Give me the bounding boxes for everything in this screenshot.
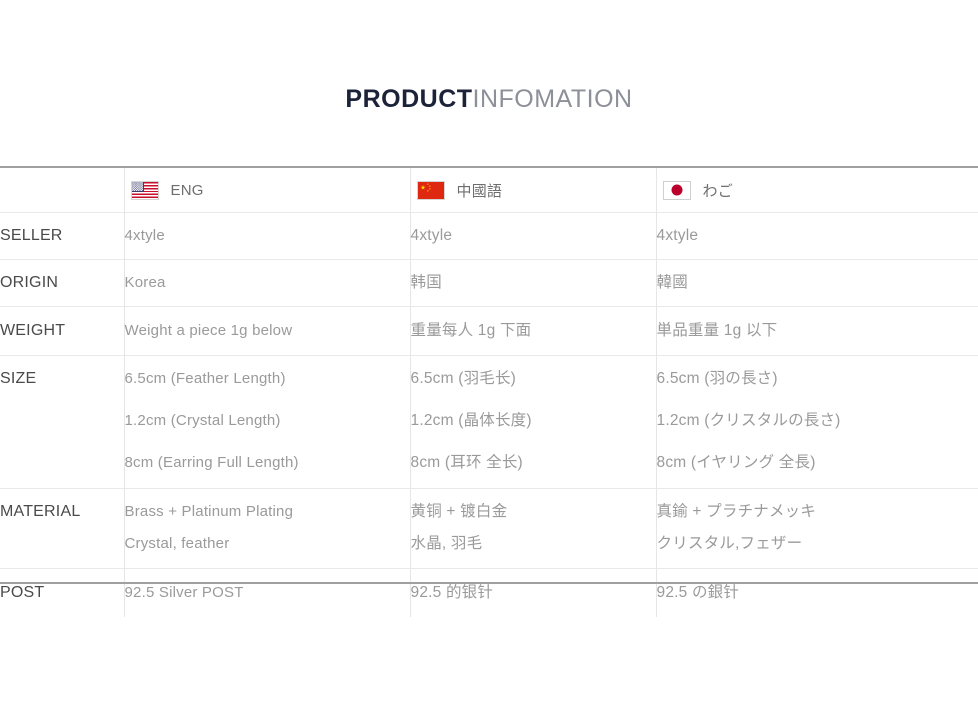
header-cell-jpn: わご (656, 168, 978, 213)
cell-weight-chn: 重量每人 1g 下面 (410, 307, 656, 356)
table-row: POST 92.5 Silver POST 92.5 的银针 92.5 の銀针 (0, 569, 978, 618)
table-row: SELLER 4xtyle 4xtyle 4xtyle (0, 213, 978, 260)
cell-seller-eng: 4xtyle (124, 213, 410, 260)
table-row: ORIGIN Korea 韩国 韓國 (0, 260, 978, 307)
cell-post-jpn: 92.5 の銀针 (656, 569, 978, 618)
cell-size-jpn: 6.5cm (羽の長さ) 1.2cm (クリスタルの長さ) 8cm (イヤリング… (656, 356, 978, 489)
header-label-jpn: わご (703, 180, 733, 201)
cell-weight-jpn: 単品重量 1g 以下 (656, 307, 978, 356)
flag-japan-icon (663, 181, 691, 200)
cell-weight-eng: Weight a piece 1g below (124, 307, 410, 356)
flag-china-icon (417, 181, 445, 200)
cell-seller-chn: 4xtyle (410, 213, 656, 260)
row-label-material: MATERIAL (0, 489, 124, 569)
header-cell-chn: 中國語 (410, 168, 656, 213)
header-cell-empty (0, 168, 124, 213)
row-label-weight: WEIGHT (0, 307, 124, 356)
row-label-seller: SELLER (0, 213, 124, 260)
cell-origin-jpn: 韓國 (656, 260, 978, 307)
row-label-post: POST (0, 569, 124, 618)
cell-seller-jpn: 4xtyle (656, 213, 978, 260)
cell-origin-eng: Korea (124, 260, 410, 307)
cell-material-eng: Brass + Platinum Plating Crystal, feathe… (124, 489, 410, 569)
cell-material-chn: 黄铜 + 镀白金 水晶, 羽毛 (410, 489, 656, 569)
cell-size-eng: 6.5cm (Feather Length) 1.2cm (Crystal Le… (124, 356, 410, 489)
cell-post-chn: 92.5 的银针 (410, 569, 656, 618)
cell-size-chn: 6.5cm (羽毛长) 1.2cm (晶体长度) 8cm (耳环 全长) (410, 356, 656, 489)
table-bottom-rule (0, 582, 978, 584)
table-row: WEIGHT Weight a piece 1g below 重量每人 1g 下… (0, 307, 978, 356)
table-row: SIZE 6.5cm (Feather Length) 1.2cm (Cryst… (0, 356, 978, 489)
product-info-table: ENG 中國語 わご (0, 168, 978, 617)
header-label-eng: ENG (171, 182, 204, 199)
page-title-light: INFOMATION (473, 85, 633, 113)
header-cell-eng: ENG (124, 168, 410, 213)
page-title: PRODUCTINFOMATION (0, 82, 978, 116)
cell-post-eng: 92.5 Silver POST (124, 569, 410, 618)
cell-material-jpn: 真鍮 + プラチナメッキ クリスタル,フェザー (656, 489, 978, 569)
flag-usa-icon (131, 181, 159, 200)
product-information-page: PRODUCTINFOMATION ENG (0, 0, 978, 701)
cell-origin-chn: 韩国 (410, 260, 656, 307)
page-title-wrapper: PRODUCTINFOMATION (0, 82, 978, 116)
row-label-size: SIZE (0, 356, 124, 489)
row-label-origin: ORIGIN (0, 260, 124, 307)
table-row: MATERIAL Brass + Platinum Plating Crysta… (0, 489, 978, 569)
page-title-strong: PRODUCT (345, 85, 472, 113)
header-label-chn: 中國語 (457, 180, 503, 201)
table-header-row: ENG 中國語 わご (0, 168, 978, 213)
